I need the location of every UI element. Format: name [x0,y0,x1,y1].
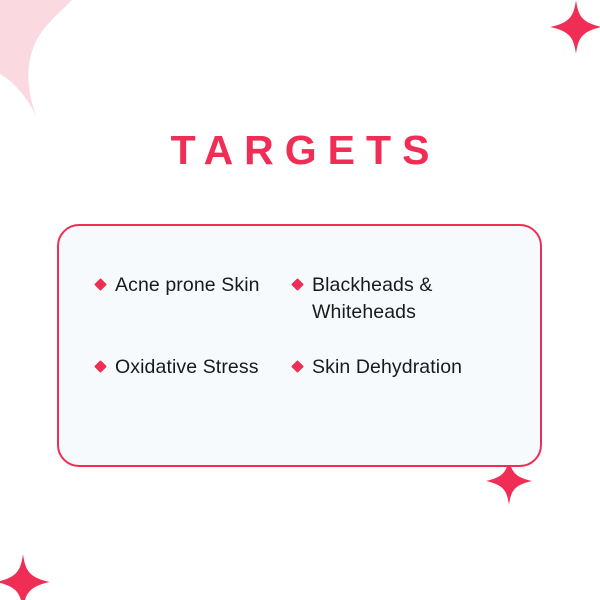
sparkle-icon [548,0,600,56]
diamond-bullet-icon [94,360,107,373]
diamond-bullet-icon [94,278,107,291]
poster-canvas: TARGETS Acne prone Skin Blackheads & Whi… [0,0,600,600]
sparkle-icon [0,552,52,600]
list-item: Blackheads & Whiteheads [293,272,516,326]
target-label: Blackheads & Whiteheads [312,272,516,326]
target-label: Oxidative Stress [115,354,259,381]
targets-card: Acne prone Skin Blackheads & Whiteheads … [57,224,542,467]
target-label: Acne prone Skin [115,272,260,299]
list-item: Oxidative Stress [96,354,293,381]
list-item: Acne prone Skin [96,272,293,326]
targets-grid: Acne prone Skin Blackheads & Whiteheads … [96,272,516,381]
target-label: Skin Dehydration [312,354,462,381]
page-title: TARGETS [0,127,600,173]
diamond-bullet-icon [291,360,304,373]
diamond-bullet-icon [291,278,304,291]
list-item: Skin Dehydration [293,354,516,381]
